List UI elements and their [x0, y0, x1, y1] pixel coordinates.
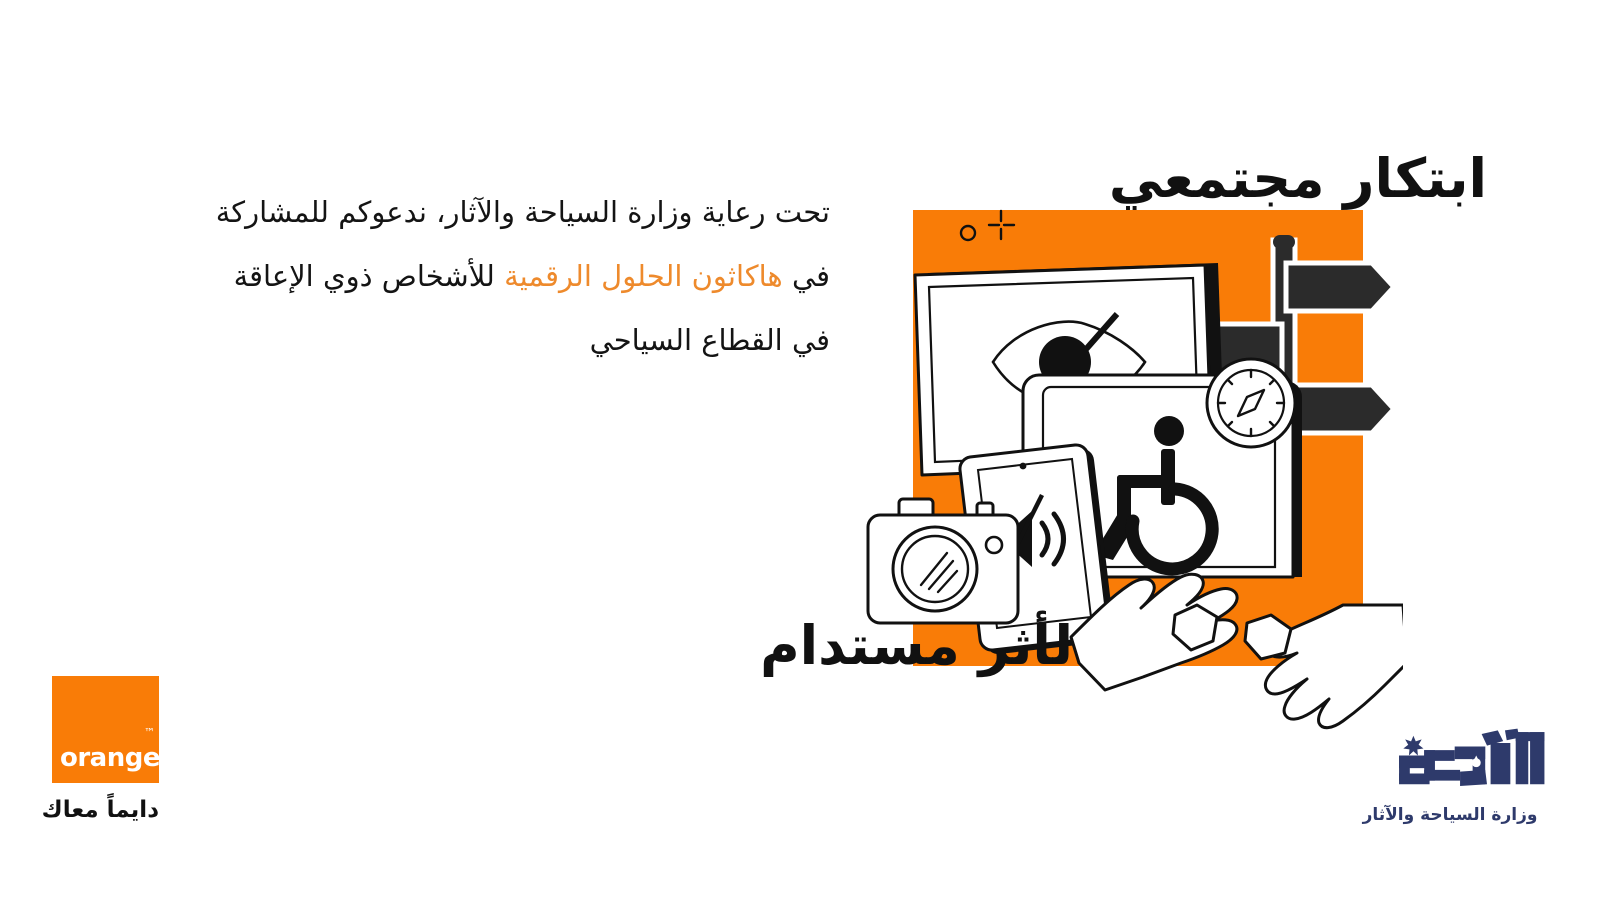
copy-line-2-prefix: في [783, 259, 830, 293]
headline-top: ابتكار مجتمعي [1109, 150, 1487, 208]
sign-language-hands-icon [1071, 574, 1403, 727]
orange-tagline: دايماً معاك [52, 797, 159, 823]
ministry-subtitle: وزارة السياحة والآثار [1335, 805, 1565, 825]
compass-icon [1207, 359, 1295, 447]
ministry-logo: وزارة السياحة والآثار [1335, 725, 1565, 825]
orange-logo: orange ™ دايماً معاك [52, 676, 159, 823]
copy-line-3: في القطاع السياحي [120, 308, 830, 372]
trademark-symbol: ™ [144, 726, 155, 739]
copy-line-2-suffix: للأشخاص ذوي الإعاقة [234, 259, 504, 293]
body-copy: تحت رعاية وزارة السياحة والآثار، ندعوكم … [120, 180, 830, 372]
circle-decoration [961, 226, 975, 240]
poster-canvas: تحت رعاية وزارة السياحة والآثار، ندعوكم … [0, 0, 1600, 900]
orange-logo-box: orange ™ [52, 676, 159, 783]
jordan-wordmark-icon [1347, 725, 1553, 795]
copy-line-2-highlight: هاكاثون الحلول الرقمية [504, 259, 783, 293]
orange-wordmark: orange [60, 743, 160, 773]
sparkle-decoration [989, 211, 1014, 239]
camera-icon [868, 499, 1018, 623]
headline-bottom: لأثر مستدام [760, 617, 1073, 675]
copy-line-2: في هاكاثون الحلول الرقمية للأشخاص ذوي ال… [120, 244, 830, 308]
copy-line-1: تحت رعاية وزارة السياحة والآثار، ندعوكم … [120, 180, 830, 244]
hero-illustration: .ln{fill:none;stroke:#111;stroke-width:3… [913, 210, 1363, 666]
